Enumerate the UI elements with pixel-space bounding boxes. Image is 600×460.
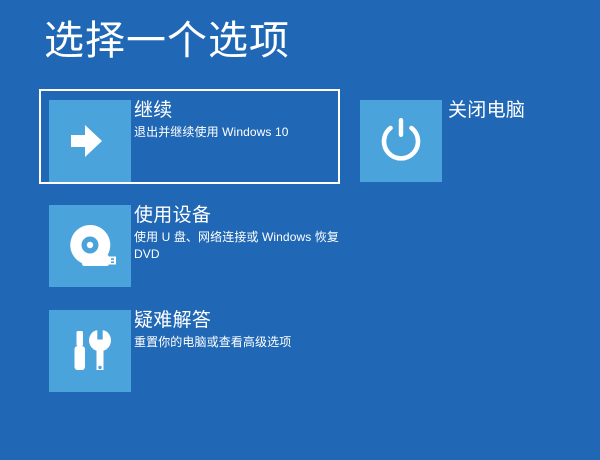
page-title: 选择一个选项 — [44, 14, 290, 68]
option-use-a-device-subtitle: 使用 U 盘、网络连接或 Windows 恢复 DVD — [134, 229, 342, 263]
option-use-a-device-tile — [49, 205, 131, 287]
option-turn-off-pc-text: 关闭电脑 — [448, 98, 595, 123]
option-continue-subtitle: 退出并继续使用 Windows 10 — [134, 124, 342, 141]
option-troubleshoot-title: 疑难解答 — [134, 308, 342, 333]
option-troubleshoot-subtitle: 重置你的电脑或查看高级选项 — [134, 334, 342, 351]
option-turn-off-pc-tile — [360, 100, 442, 182]
disc-usb-icon — [49, 205, 131, 287]
power-icon — [360, 100, 442, 182]
option-continue-text: 继续 退出并继续使用 Windows 10 — [134, 98, 342, 141]
option-troubleshoot-text: 疑难解答 重置你的电脑或查看高级选项 — [134, 308, 342, 351]
recovery-options-screen: 选择一个选项 继续 退出并继续使用 Windows 10 — [0, 0, 600, 460]
option-continue-title: 继续 — [134, 98, 342, 123]
option-use-a-device-text: 使用设备 使用 U 盘、网络连接或 Windows 恢复 DVD — [134, 203, 342, 263]
option-continue-tile — [49, 100, 131, 182]
option-troubleshoot-tile — [49, 310, 131, 392]
arrow-right-icon — [49, 100, 131, 182]
option-use-a-device-title: 使用设备 — [134, 203, 342, 228]
option-turn-off-pc-title: 关闭电脑 — [448, 98, 595, 123]
screwdriver-wrench-icon — [49, 310, 131, 392]
